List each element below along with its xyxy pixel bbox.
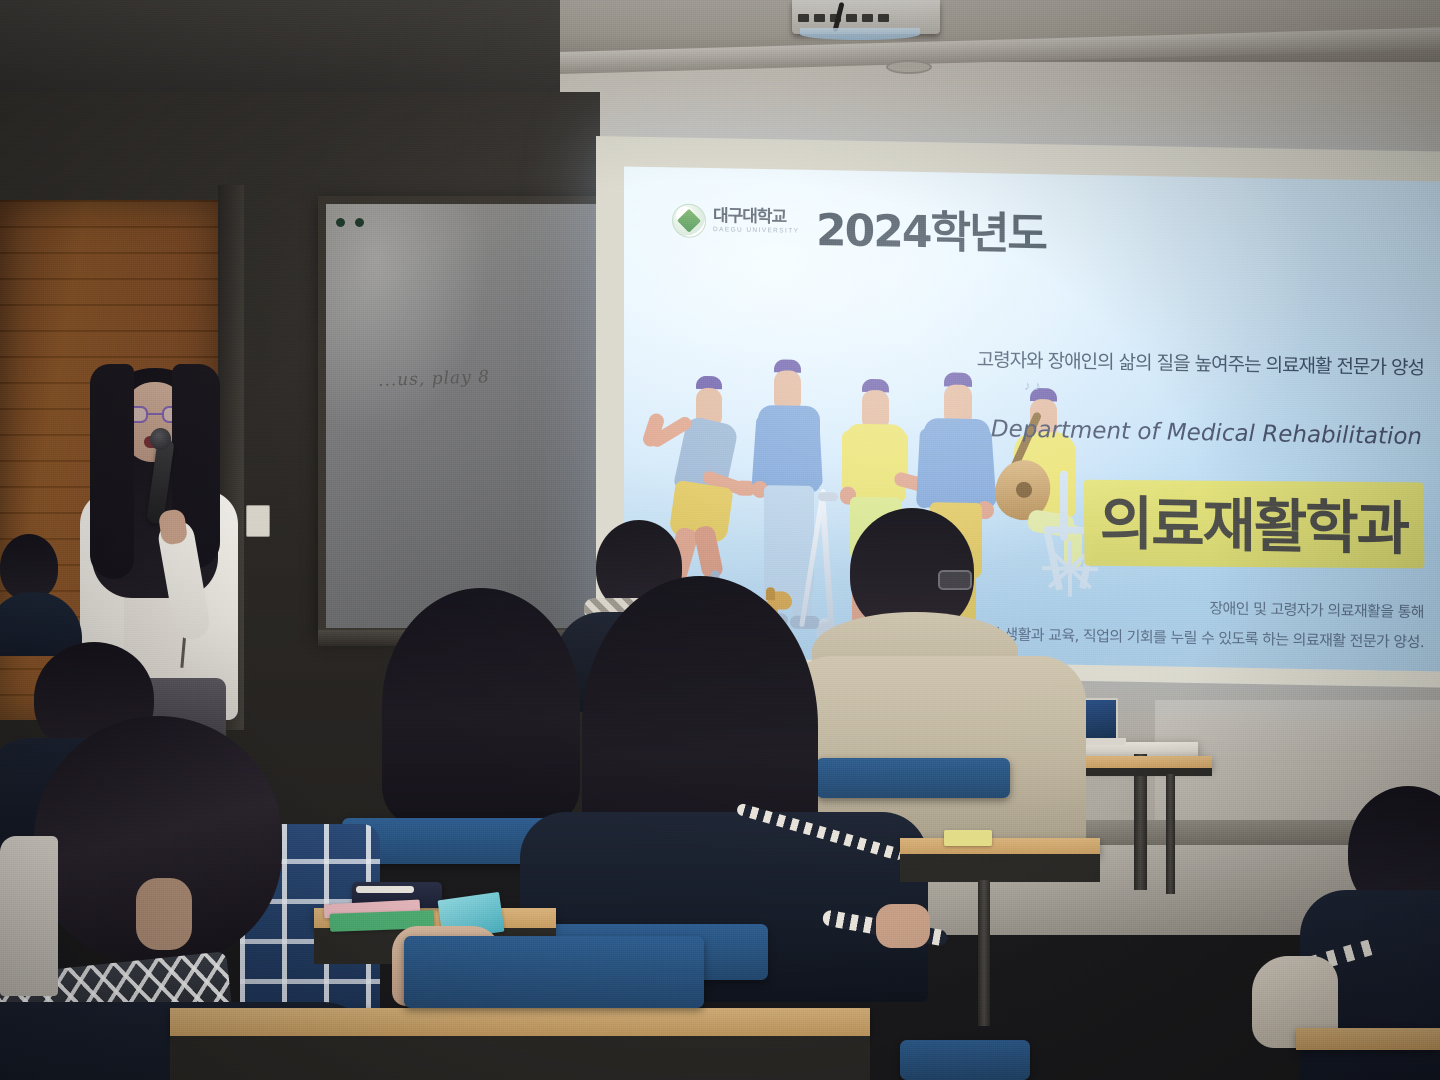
ceiling-light-icon <box>886 60 932 74</box>
projector-ports-icon <box>798 9 934 23</box>
presenter-hair-left <box>90 364 134 579</box>
magnet-icon <box>336 218 345 227</box>
music-note-icon: ♪ ♪ <box>1024 378 1041 393</box>
daegu-university-emblem-icon <box>672 203 706 238</box>
student-ear <box>136 878 192 950</box>
student-far-back <box>0 534 70 644</box>
yellow-note[interactable] <box>944 830 992 846</box>
slide-year: 2024학년도 <box>816 194 1046 262</box>
desk-foreground-edge <box>170 1036 870 1080</box>
whiteboard[interactable]: ...us, play 8 <box>326 204 600 628</box>
pencil-case-stripe <box>356 886 414 893</box>
projector-lens-icon <box>800 28 920 40</box>
university-logo: 대구대학교 DAEGU UNIVERSITY <box>672 203 799 239</box>
logo-english-name: DAEGU UNIVERSITY <box>713 227 799 235</box>
glasses-icon <box>938 570 972 590</box>
logo-korean-name: 대구대학교 <box>713 208 799 227</box>
chair-right-front[interactable] <box>900 1040 1030 1080</box>
desk-right-mid-edge <box>900 854 1100 882</box>
student-white-top-left <box>0 836 58 996</box>
student-hand <box>876 904 930 948</box>
classroom-scene: ...us, play 8 대구대학교 DAEGU UNIVERSITY 202… <box>0 0 1440 1080</box>
slide-department-wrap: 의료재활학과 <box>1084 470 1424 576</box>
desk-right-lower <box>1296 1028 1440 1050</box>
desk-right-mid-leg <box>978 880 990 1026</box>
magnet-icon <box>355 218 364 227</box>
desk-back-right-leg <box>1166 774 1175 894</box>
slide-department-title: 의료재활학과 <box>1084 470 1424 576</box>
chair-foreground-left[interactable] <box>404 936 704 1008</box>
slide-department-text: 의료재활학과 <box>1100 489 1408 563</box>
whiteboard-handwriting: ...us, play 8 <box>378 367 491 391</box>
desk-foreground <box>170 1008 870 1038</box>
whiteboard-glare <box>326 204 490 437</box>
